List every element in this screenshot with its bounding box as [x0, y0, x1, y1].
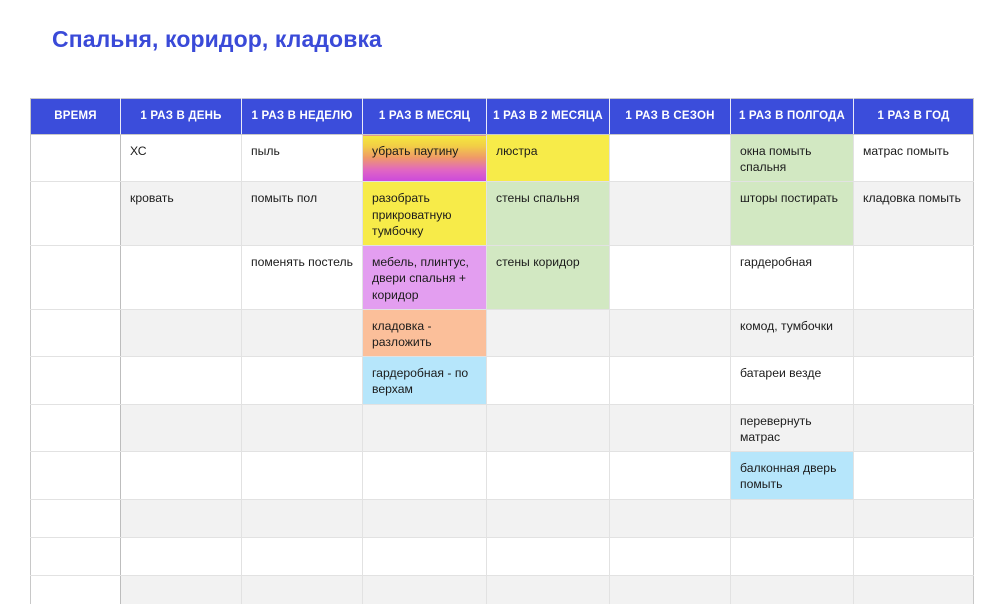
table-row — [31, 575, 974, 604]
table-cell[interactable] — [121, 499, 242, 537]
table-cell[interactable] — [242, 404, 363, 451]
page-root: Спальня, коридор, кладовка ВРЕМЯ 1 РАЗ В… — [0, 0, 1000, 604]
table-cell[interactable] — [31, 357, 121, 404]
table-cell[interactable]: гардеробная — [731, 246, 854, 310]
table-cell[interactable] — [121, 452, 242, 499]
table-cell[interactable] — [487, 537, 610, 575]
column-header-yearly[interactable]: 1 РАЗ В ГОД — [854, 99, 974, 135]
table-cell[interactable] — [31, 182, 121, 246]
table-cell[interactable] — [487, 452, 610, 499]
table-cell[interactable] — [854, 575, 974, 604]
table-cell[interactable]: мебель, плинтус, двери спальня + коридор — [363, 246, 487, 310]
table-cell[interactable] — [31, 537, 121, 575]
table-row: ХСпыльубрать паутинулюстраокна помыть сп… — [31, 135, 974, 182]
table-cell[interactable] — [487, 499, 610, 537]
table-cell[interactable] — [610, 357, 731, 404]
page-title: Спальня, коридор, кладовка — [52, 26, 382, 53]
column-header-monthly[interactable]: 1 РАЗ В МЕСЯЦ — [363, 99, 487, 135]
table-cell[interactable] — [31, 499, 121, 537]
table-cell[interactable]: кладовка помыть — [854, 182, 974, 246]
table-row: балконная дверь помыть — [31, 452, 974, 499]
table-cell[interactable] — [121, 537, 242, 575]
table-cell[interactable] — [121, 309, 242, 356]
table-row: поменять постельмебель, плинтус, двери с… — [31, 246, 974, 310]
table-cell[interactable] — [854, 452, 974, 499]
table-cell[interactable] — [731, 575, 854, 604]
table-cell[interactable] — [610, 404, 731, 451]
table-cell[interactable] — [121, 404, 242, 451]
column-header-weekly[interactable]: 1 РАЗ В НЕДЕЛЮ — [242, 99, 363, 135]
table-cell[interactable] — [610, 309, 731, 356]
table-row: кроватьпомыть полразобрать прикроватную … — [31, 182, 974, 246]
table-cell[interactable]: помыть пол — [242, 182, 363, 246]
table-cell[interactable]: разобрать прикроватную тумбочку — [363, 182, 487, 246]
cleaning-schedule-table: ВРЕМЯ 1 РАЗ В ДЕНЬ 1 РАЗ В НЕДЕЛЮ 1 РАЗ … — [30, 98, 974, 604]
table-cell[interactable] — [121, 246, 242, 310]
table-cell[interactable]: люстра — [487, 135, 610, 182]
table-cell[interactable] — [610, 182, 731, 246]
table-cell[interactable]: поменять постель — [242, 246, 363, 310]
table-cell[interactable] — [610, 537, 731, 575]
table-cell[interactable]: кровать — [121, 182, 242, 246]
table-cell[interactable] — [854, 499, 974, 537]
table-cell[interactable]: стены спальня — [487, 182, 610, 246]
table-cell[interactable] — [610, 499, 731, 537]
table-cell[interactable] — [31, 246, 121, 310]
table-cell[interactable] — [487, 309, 610, 356]
table-cell[interactable] — [31, 452, 121, 499]
table-row: гардеробная - по верхамбатареи везде — [31, 357, 974, 404]
table-row: кладовка - разложитькомод, тумбочки — [31, 309, 974, 356]
table-cell[interactable] — [242, 357, 363, 404]
table-cell[interactable] — [31, 404, 121, 451]
column-header-seasonal[interactable]: 1 РАЗ В СЕЗОН — [610, 99, 731, 135]
table-cell[interactable] — [363, 499, 487, 537]
table-cell[interactable] — [31, 575, 121, 604]
table-cell[interactable] — [854, 309, 974, 356]
table-cell[interactable] — [610, 135, 731, 182]
table-cell[interactable] — [854, 404, 974, 451]
table-cell[interactable] — [242, 575, 363, 604]
table-cell[interactable] — [242, 499, 363, 537]
table-cell[interactable] — [731, 537, 854, 575]
table-cell[interactable]: матрас помыть — [854, 135, 974, 182]
table-cell[interactable] — [242, 537, 363, 575]
header-row: ВРЕМЯ 1 РАЗ В ДЕНЬ 1 РАЗ В НЕДЕЛЮ 1 РАЗ … — [31, 99, 974, 135]
table-cell[interactable] — [363, 575, 487, 604]
table-cell[interactable]: перевернуть матрас — [731, 404, 854, 451]
table-cell[interactable]: кладовка - разложить — [363, 309, 487, 356]
table-cell[interactable] — [121, 575, 242, 604]
table-cell[interactable] — [242, 309, 363, 356]
table-cell[interactable] — [487, 575, 610, 604]
table-cell[interactable] — [487, 404, 610, 451]
table-cell[interactable] — [487, 357, 610, 404]
table-cell[interactable] — [121, 357, 242, 404]
table-cell[interactable] — [610, 575, 731, 604]
table-cell[interactable] — [610, 246, 731, 310]
table-cell[interactable]: комод, тумбочки — [731, 309, 854, 356]
table-cell[interactable]: окна помыть спальня — [731, 135, 854, 182]
table-cell[interactable] — [610, 452, 731, 499]
table-cell[interactable]: гардеробная - по верхам — [363, 357, 487, 404]
table-cell[interactable]: убрать паутину — [363, 135, 487, 182]
table-body: ХСпыльубрать паутинулюстраокна помыть сп… — [31, 135, 974, 604]
column-header-time[interactable]: ВРЕМЯ — [31, 99, 121, 135]
table-cell[interactable]: шторы постирать — [731, 182, 854, 246]
column-header-daily[interactable]: 1 РАЗ В ДЕНЬ — [121, 99, 242, 135]
table-cell[interactable] — [854, 246, 974, 310]
table-row — [31, 499, 974, 537]
table-cell[interactable] — [363, 404, 487, 451]
table-cell[interactable] — [363, 537, 487, 575]
table-cell[interactable]: батареи везде — [731, 357, 854, 404]
column-header-bimonthly[interactable]: 1 РАЗ В 2 МЕСЯЦА — [487, 99, 610, 135]
table-cell[interactable] — [31, 309, 121, 356]
table-row: перевернуть матрас — [31, 404, 974, 451]
table-cell[interactable]: пыль — [242, 135, 363, 182]
table-cell[interactable] — [242, 452, 363, 499]
table-cell[interactable] — [854, 357, 974, 404]
table-cell[interactable]: стены коридор — [487, 246, 610, 310]
table-cell[interactable] — [363, 452, 487, 499]
table-row — [31, 537, 974, 575]
table-cell[interactable] — [731, 499, 854, 537]
table-cell[interactable]: ХС — [121, 135, 242, 182]
column-header-half-yearly[interactable]: 1 РАЗ В ПОЛГОДА — [731, 99, 854, 135]
table-cell[interactable] — [31, 135, 121, 182]
table-cell[interactable]: балконная дверь помыть — [731, 452, 854, 499]
table-header: ВРЕМЯ 1 РАЗ В ДЕНЬ 1 РАЗ В НЕДЕЛЮ 1 РАЗ … — [31, 99, 974, 135]
table-cell[interactable] — [854, 537, 974, 575]
schedule-table-container: ВРЕМЯ 1 РАЗ В ДЕНЬ 1 РАЗ В НЕДЕЛЮ 1 РАЗ … — [30, 98, 973, 604]
